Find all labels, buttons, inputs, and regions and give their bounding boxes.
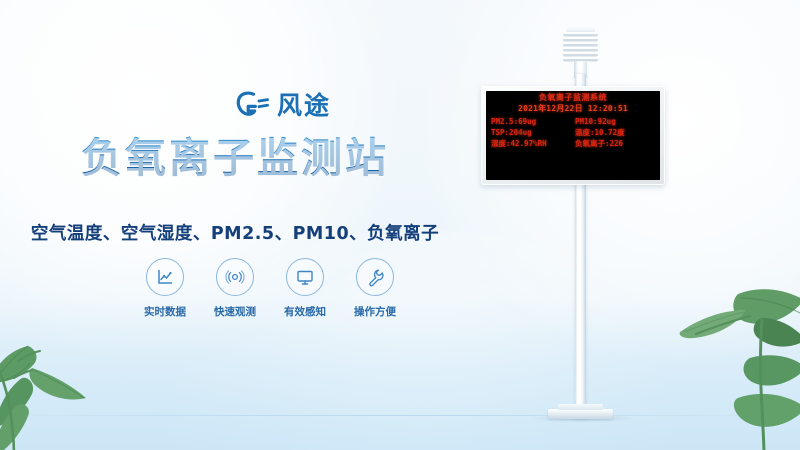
led-reading: 湿度:42.97%RH: [491, 139, 571, 148]
led-reading: PM10:92ug: [575, 117, 655, 126]
led-reading: 负氧离子:226: [575, 139, 655, 148]
brand-name: 风途: [277, 93, 331, 118]
feature-label: 操作方便: [354, 304, 396, 319]
feature-item-effective-sensing[interactable]: 有效感知: [275, 258, 335, 319]
led-screen: 负氧离子监测系统 2021年12月22日 12:20:51 PM2.5:69ug…: [486, 91, 660, 180]
led-reading: PM2.5:69ug: [491, 117, 571, 126]
led-display-panel[interactable]: 负氧离子监测系统 2021年12月22日 12:20:51 PM2.5:69ug…: [481, 86, 665, 185]
feature-item-easy-operation[interactable]: 操作方便: [345, 258, 405, 319]
feature-label: 实时数据: [144, 304, 186, 319]
brand-logo: 风途: [236, 90, 331, 120]
hero-text-column: 风途 负氧离子监测站 空气温度、空气湿度、PM2.5、PM10、负氧离子 实时数…: [0, 0, 470, 450]
base-plate-icon: [548, 409, 613, 419]
promo-banner: 风途 负氧离子监测站 空气温度、空气湿度、PM2.5、PM10、负氧离子 实时数…: [0, 0, 800, 450]
feature-label: 有效感知: [284, 304, 326, 319]
monitoring-station: 负氧离子监测系统 2021年12月22日 12:20:51 PM2.5:69ug…: [470, 0, 800, 450]
fengtu-logo-icon: [236, 90, 270, 120]
feature-item-realtime-data[interactable]: 实时数据: [135, 258, 195, 319]
led-title: 负氧离子监测系统: [486, 94, 660, 103]
wrench-icon: [356, 258, 394, 296]
monitor-icon: [286, 258, 324, 296]
feature-label: 快速观测: [214, 304, 256, 319]
led-reading: TSP:204ug: [491, 128, 571, 137]
led-reading: 温度:10.72度: [575, 128, 655, 137]
page-title: 负氧离子监测站: [0, 136, 470, 181]
feature-item-fast-observation[interactable]: 快速观测: [205, 258, 265, 319]
feature-list: 实时数据 快速观测: [135, 258, 405, 319]
radar-scan-icon: [216, 258, 254, 296]
led-readings-grid: PM2.5:69ug PM10:92ug TSP:204ug 温度:10.72度…: [486, 117, 660, 149]
line-chart-icon: [146, 258, 184, 296]
led-datetime: 2021年12月22日 12:20:51: [486, 105, 660, 114]
hero-subtitle: 空气温度、空气湿度、PM2.5、PM10、负氧离子: [0, 220, 470, 245]
